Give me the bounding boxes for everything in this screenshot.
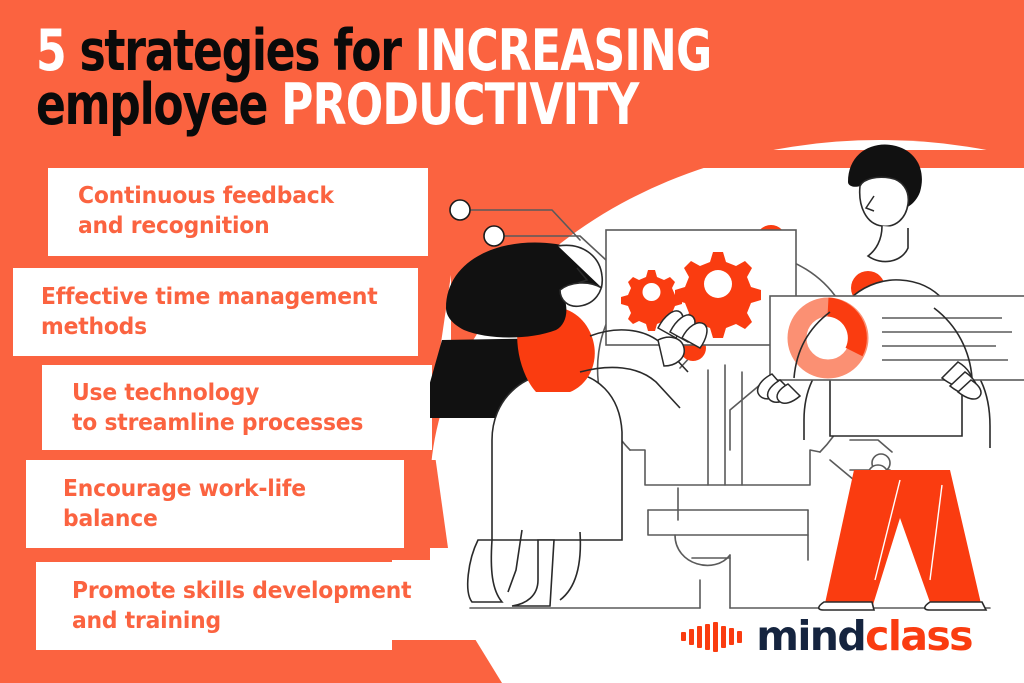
strategy-item-3[interactable]: Use technology to streamline processes: [42, 365, 432, 450]
strategy-item-1-label: Continuous feedback and recognition: [78, 181, 334, 241]
page-title: 5 strategies for INCREASING employee PRO…: [36, 24, 936, 132]
strategy-item-5[interactable]: Promote skills development and training: [36, 562, 486, 650]
person-right: [758, 145, 1024, 611]
waveform-icon: [681, 622, 742, 652]
logo-word-class: class: [865, 612, 972, 660]
headline-line-2: employee PRODUCTIVITY: [36, 78, 810, 132]
infographic-canvas: 5 strategies for INCREASING employee PRO…: [0, 0, 1024, 683]
headline-word-employee: employee: [36, 72, 267, 138]
logo-wordmark: mindclass: [756, 616, 972, 657]
strategy-item-2-label: Effective time management methods: [41, 282, 378, 342]
illustration-lightbulb-team: [430, 140, 1024, 620]
strategy-item-5-label: Promote skills development and training: [72, 576, 411, 636]
mindclass-logo[interactable]: mindclass: [681, 616, 972, 657]
strategy-item-4-label: Encourage work-life balance: [63, 474, 306, 534]
headline-line-1: 5 strategies for INCREASING: [36, 24, 810, 78]
strategy-item-3-label: Use technology to streamline processes: [72, 378, 363, 438]
strategy-item-4[interactable]: Encourage work-life balance: [26, 460, 418, 548]
strategy-item-2[interactable]: Effective time management methods: [13, 268, 451, 356]
strategy-item-1[interactable]: Continuous feedback and recognition: [48, 166, 428, 256]
logo-word-mind: mind: [756, 612, 865, 660]
headline-word-productivity: PRODUCTIVITY: [281, 72, 638, 138]
